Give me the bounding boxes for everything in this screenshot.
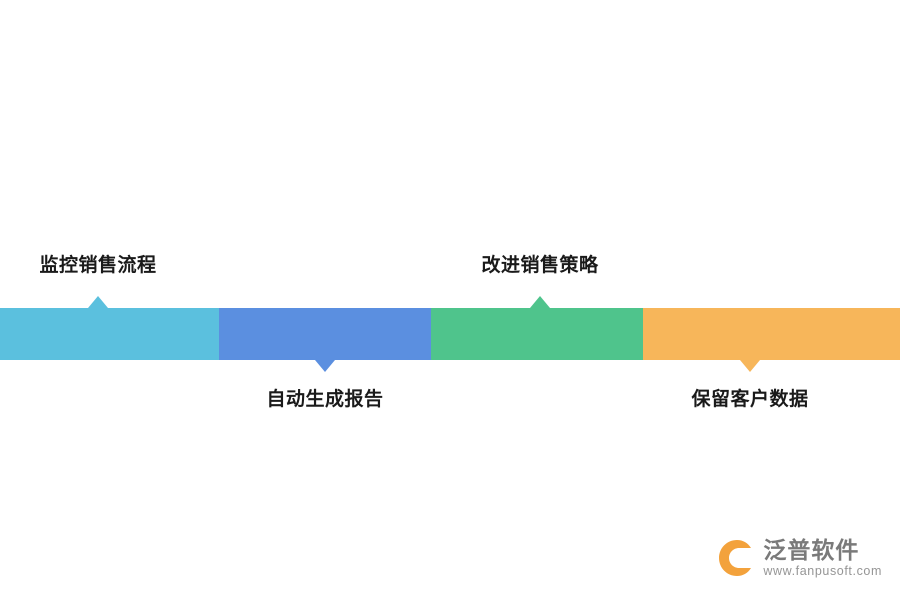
brand-url: www.fanpusoft.com xyxy=(763,564,882,578)
callout-label-2: 自动生成报告 xyxy=(266,384,383,411)
band-segment-1 xyxy=(0,308,219,360)
brand-name: 泛普软件 xyxy=(763,538,882,562)
process-band xyxy=(0,308,900,360)
callout-pointer-1 xyxy=(88,296,108,308)
band-segment-3 xyxy=(431,308,643,360)
callout-label-4: 保留客户数据 xyxy=(691,384,808,411)
callout-pointer-4 xyxy=(740,360,760,372)
diagram-canvas: 监控销售流程 自动生成报告 改进销售策略 保留客户数据 泛普软件 www.fan… xyxy=(0,0,900,600)
band-segment-4 xyxy=(643,308,900,360)
brand-watermark: 泛普软件 www.fanpusoft.com xyxy=(717,538,882,578)
callout-label-3: 改进销售策略 xyxy=(481,250,598,277)
callout-pointer-3 xyxy=(530,296,550,308)
band-segment-2 xyxy=(219,308,431,360)
callout-label-1: 监控销售流程 xyxy=(39,250,156,277)
brand-text: 泛普软件 www.fanpusoft.com xyxy=(763,538,882,578)
callout-pointer-2 xyxy=(315,360,335,372)
flame-logo-icon xyxy=(717,538,757,578)
